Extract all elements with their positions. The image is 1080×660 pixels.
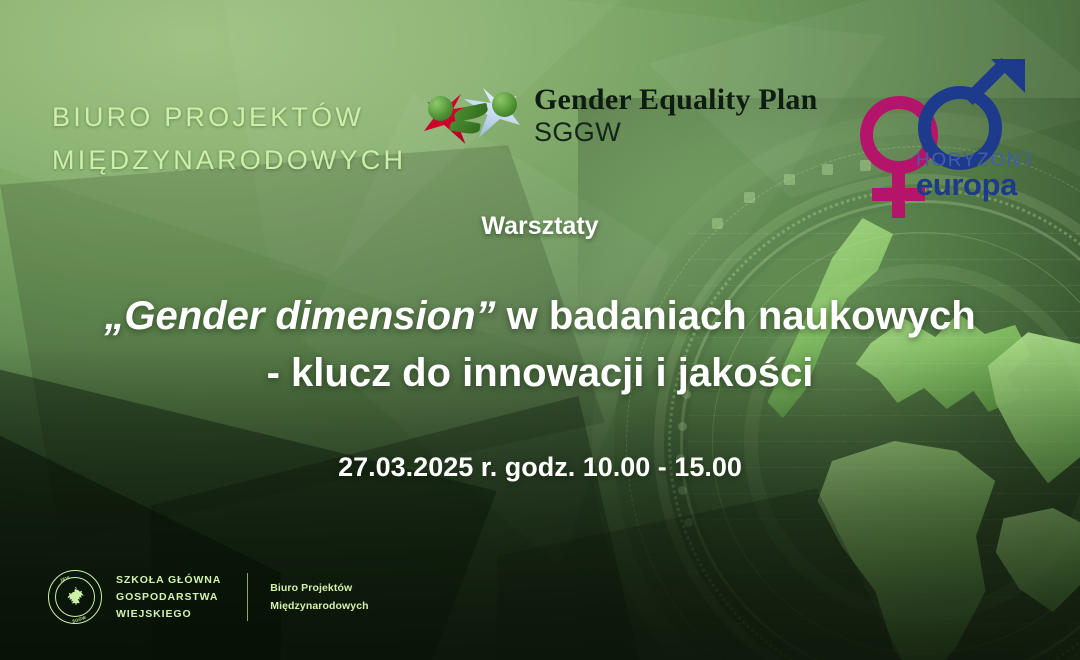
horizon-europa-logo: HORYZONT europa <box>848 52 1048 202</box>
office-title-line1: BIURO PROJEKTÓW <box>52 96 406 139</box>
event-type-label: Warsztaty <box>0 212 1080 241</box>
footer-office-name: Biuro Projektów Międzynarodowych <box>270 579 368 615</box>
horizon-europa-text: HORYZONT europa <box>916 150 1035 203</box>
office-title-line2: MIĘDZYNARODOWYCH <box>52 139 406 182</box>
gep-logo-text: Gender Equality Plan SGGW <box>534 84 818 145</box>
gep-figures-icon <box>424 84 520 146</box>
gep-logo-line1: Gender Equality Plan <box>534 84 818 115</box>
footer-office-line2: Międzynarodowych <box>270 597 368 615</box>
head-circle-icon <box>428 96 453 121</box>
sggw-seal-year: 1816 <box>59 575 70 583</box>
footer-divider <box>247 573 248 621</box>
sggw-seal-abbr: SGGW <box>72 615 87 624</box>
event-title-rest: w badaniach naukowych <box>507 294 976 338</box>
horizon-europa-line2: europa <box>916 167 1035 203</box>
male-symbol-arrow <box>966 58 1028 120</box>
university-name-line1: SZKOŁA GŁÓWNA <box>116 572 221 589</box>
gep-logo-line2: SGGW <box>534 118 818 146</box>
event-title: „Gender dimension” w badaniach naukowych… <box>0 288 1080 402</box>
event-banner: BIURO PROJEKTÓW MIĘDZYNARODOWYCH Gender … <box>0 0 1080 660</box>
event-title-line1: „Gender dimension” w badaniach naukowych <box>0 288 1080 345</box>
gender-equality-plan-logo: Gender Equality Plan SGGW <box>424 84 818 146</box>
event-title-line2: - klucz do innowacji i jakości <box>0 345 1080 402</box>
university-name-line2: GOSPODARSTWA <box>116 589 221 606</box>
eagle-icon <box>63 585 87 609</box>
footer-office-line1: Biuro Projektów <box>270 579 368 597</box>
event-datetime: 27.03.2025 r. godz. 10.00 - 15.00 <box>0 452 1080 483</box>
university-name: SZKOŁA GŁÓWNA GOSPODARSTWA WIEJSKIEGO <box>116 572 221 623</box>
footer: 1816 SGGW SZKOŁA GŁÓWNA GOSPODARSTWA WIE… <box>48 570 369 624</box>
university-name-line3: WIEJSKIEGO <box>116 606 221 623</box>
office-title: BIURO PROJEKTÓW MIĘDZYNARODOWYCH <box>52 96 406 181</box>
sggw-seal-icon: 1816 SGGW <box>48 570 102 624</box>
head-circle-icon <box>492 92 517 117</box>
event-title-quoted: „Gender dimension” <box>104 294 495 338</box>
